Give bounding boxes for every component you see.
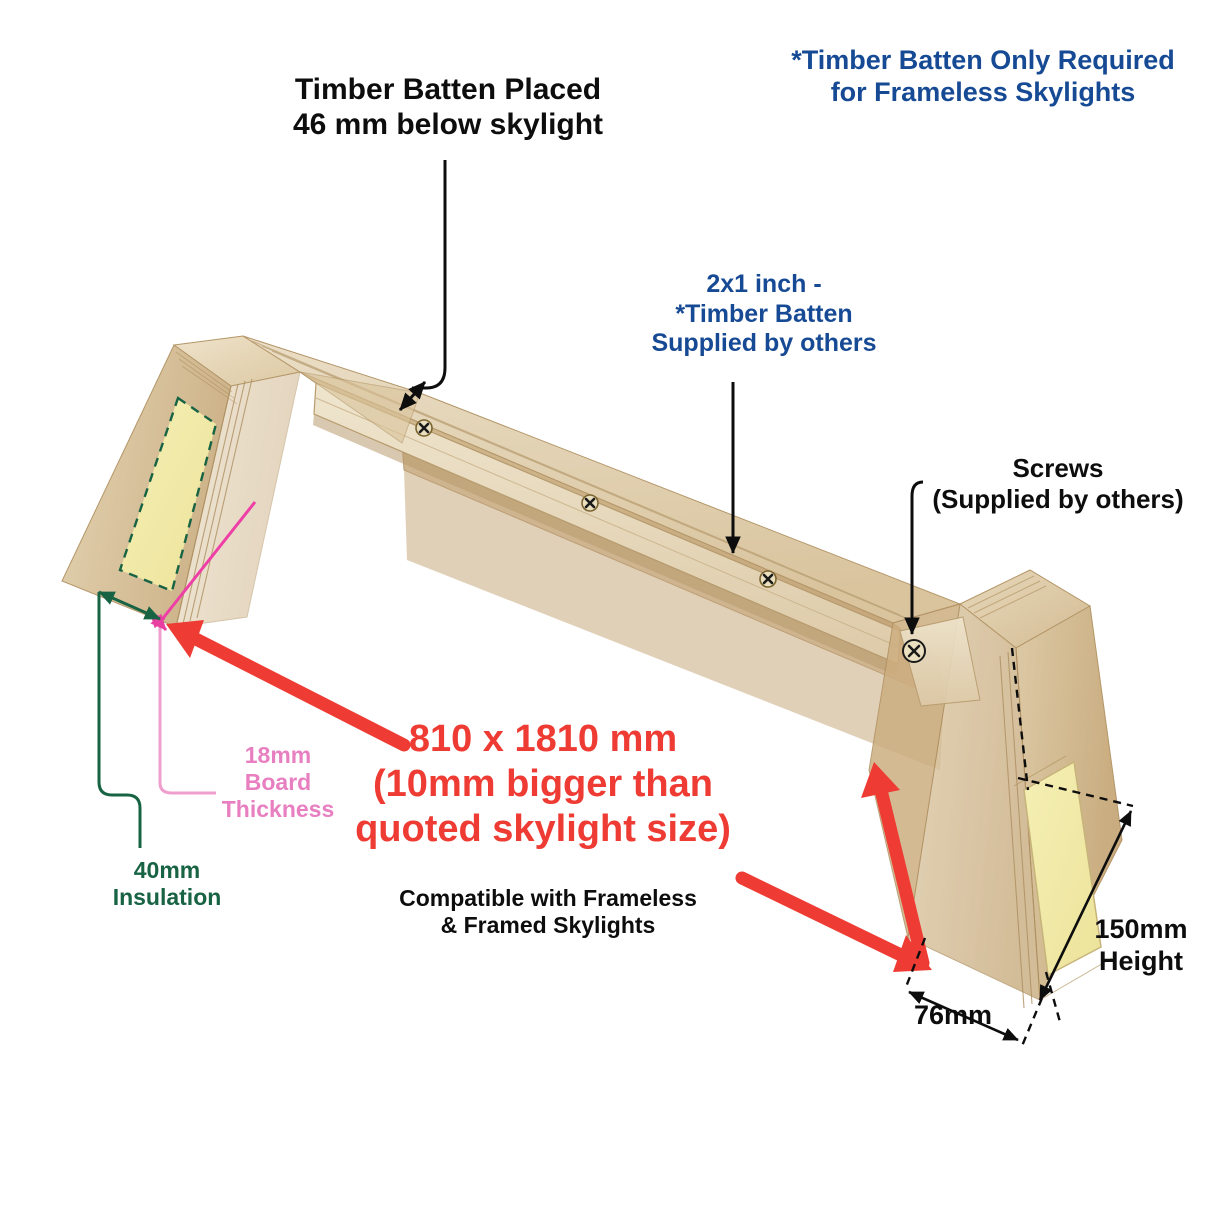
leader-batten-placement bbox=[400, 160, 445, 410]
label-screws: Screws (Supplied by others) bbox=[908, 453, 1208, 514]
label-batten-spec: 2x1 inch - *Timber Batten Supplied by ot… bbox=[604, 270, 924, 359]
label-frameless-note: *Timber Batten Only Required for Framele… bbox=[752, 45, 1214, 109]
diagram-canvas: Timber Batten Placed 46 mm below skyligh… bbox=[0, 0, 1214, 1214]
label-width: 76mm bbox=[898, 1000, 1008, 1032]
label-compatibility: Compatible with Frameless & Framed Skyli… bbox=[378, 885, 718, 939]
leader-insulation bbox=[99, 592, 160, 848]
label-main-dimension: 810 x 1810 mm (10mm bigger than quoted s… bbox=[326, 717, 760, 851]
red-arrow-right-up bbox=[861, 762, 923, 963]
label-batten-placement: Timber Batten Placed 46 mm below skyligh… bbox=[258, 72, 638, 143]
label-insulation: 40mm Insulation bbox=[92, 857, 242, 911]
annotation-leaders bbox=[0, 0, 1214, 1214]
label-board-thickness: 18mm Board Thickness bbox=[208, 742, 348, 823]
label-height: 150mm Height bbox=[1068, 914, 1214, 978]
